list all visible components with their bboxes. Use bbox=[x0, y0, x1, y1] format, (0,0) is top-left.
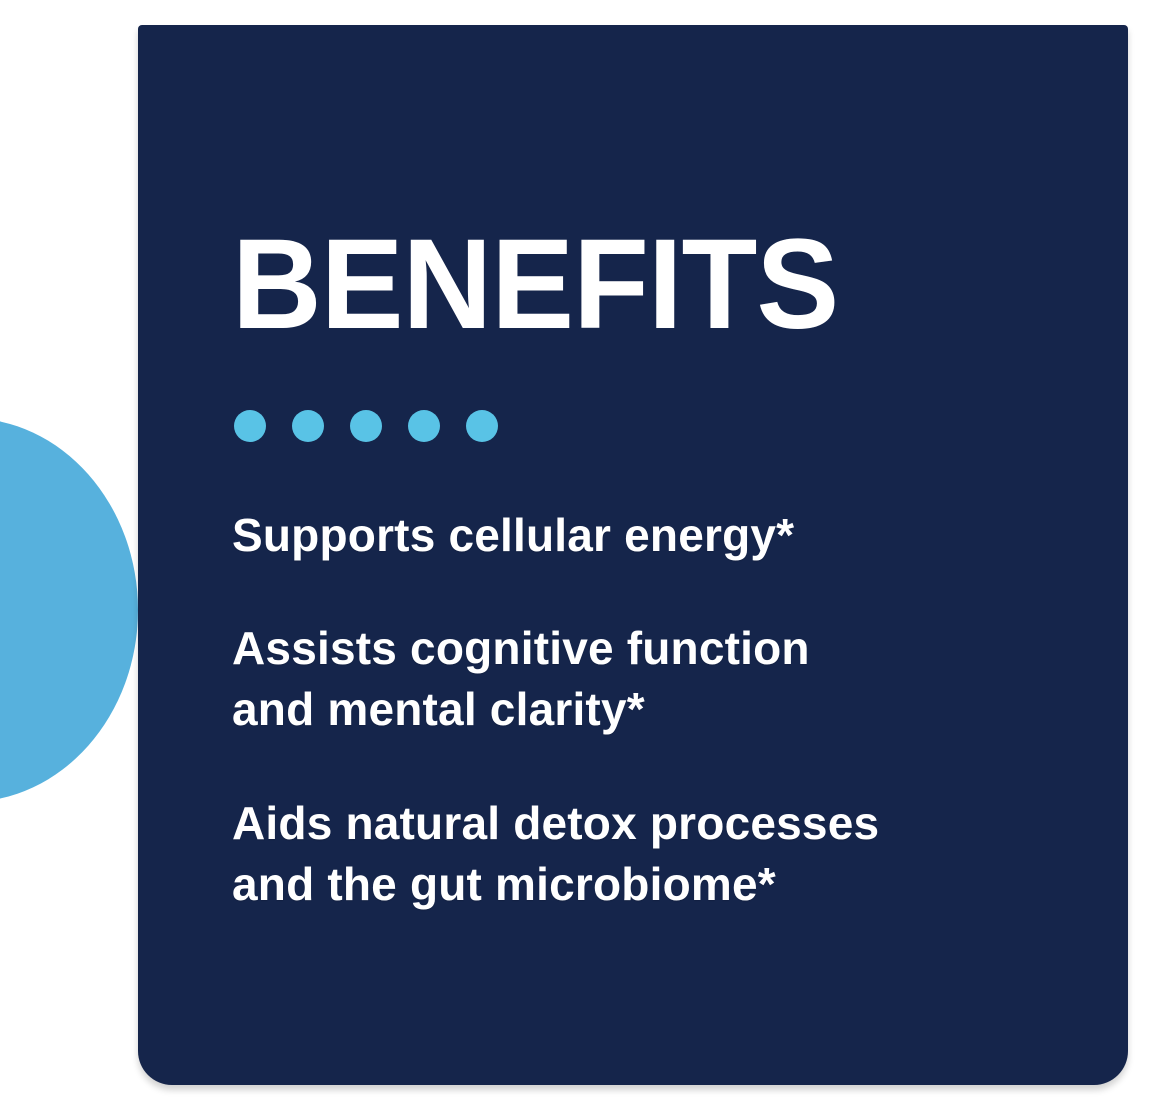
benefit-item: Assists cognitive function and mental cl… bbox=[232, 618, 1088, 740]
benefit-item: Aids natural detox processes and the gut… bbox=[232, 793, 1088, 915]
card-content: BENEFITS Supports cellular energy* Assis… bbox=[232, 25, 1088, 1085]
page-title: BENEFITS bbox=[232, 221, 838, 349]
divider-dot-icon bbox=[466, 410, 498, 442]
benefits-card: BENEFITS Supports cellular energy* Assis… bbox=[138, 25, 1128, 1085]
benefits-graphic: BENEFITS Supports cellular energy* Assis… bbox=[0, 0, 1150, 1100]
divider-dot-icon bbox=[292, 410, 324, 442]
benefit-item: Supports cellular energy* bbox=[232, 505, 1088, 566]
divider-dot-icon bbox=[234, 410, 266, 442]
dot-divider bbox=[234, 410, 498, 442]
divider-dot-icon bbox=[350, 410, 382, 442]
decorative-blue-blob bbox=[0, 418, 138, 802]
divider-dot-icon bbox=[408, 410, 440, 442]
benefits-list: Supports cellular energy* Assists cognit… bbox=[232, 505, 1088, 915]
